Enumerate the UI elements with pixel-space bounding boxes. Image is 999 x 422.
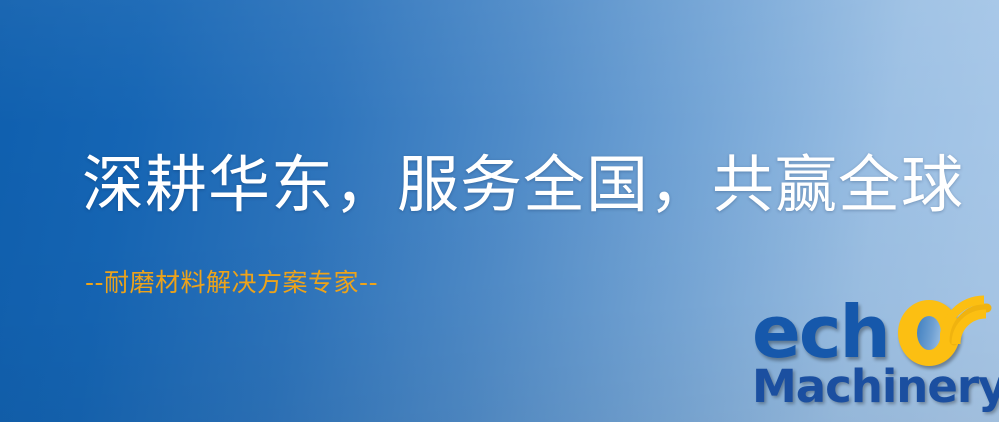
- company-logo[interactable]: ech Machinery®: [748, 296, 999, 422]
- hero-banner: 深耕华东，服务全国，共赢全球 --耐磨材料解决方案专家-- ech Machin…: [0, 0, 999, 422]
- banner-subheadline: --耐磨材料解决方案专家--: [85, 268, 378, 298]
- logo-o-counter: [917, 316, 941, 350]
- wifi-signal-arcs-icon: [940, 294, 999, 352]
- banner-headline: 深耕华东，服务全国，共赢全球: [82, 152, 964, 217]
- logo-brandline-text: Machinery: [752, 360, 999, 413]
- logo-brandline: Machinery®: [752, 364, 999, 414]
- logo-wordmark-ech: ech: [752, 296, 889, 368]
